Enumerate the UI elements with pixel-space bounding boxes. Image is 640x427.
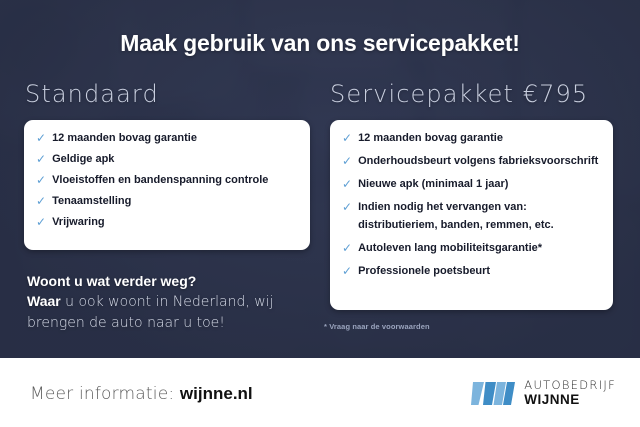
promo-body: Waar u ook woont in Nederland, wij breng…	[27, 291, 317, 334]
logo-line-bottom: WIJNNE	[524, 393, 616, 407]
list-item: ✓ 12 maanden bovag garantie	[342, 132, 599, 145]
list-item-label: Geldige apk	[52, 153, 114, 166]
list-item-label: Indien nodig het vervangen van:	[358, 201, 527, 213]
terms-footnote: * Vraag naar de voorwaarden	[324, 322, 430, 331]
standard-feature-list: ✓ 12 maanden bovag garantie ✓ Geldige ap…	[24, 120, 310, 229]
page-title: Maak gebruik van ons servicepakket!	[0, 30, 640, 57]
delivery-promo: Woont u wat verder weg? Waar u ook woont…	[27, 272, 317, 334]
service-package-banner: Maak gebruik van ons servicepakket! Stan…	[0, 0, 640, 427]
list-item: ✓ Professionele poetsbeurt	[342, 265, 599, 278]
list-item: ✓ Geldige apk	[36, 153, 296, 166]
promo-title: Woont u wat verder weg?	[27, 272, 317, 291]
service-package-card: ✓ 12 maanden bovag garantie ✓ Onderhouds…	[330, 120, 613, 310]
list-item-label: Tenaamstelling	[52, 195, 131, 208]
website-link[interactable]: wijnne.nl	[180, 384, 253, 403]
brand-logo: AUTOBEDRIJF WIJNNE	[471, 380, 616, 406]
list-item-label: Vloeistoffen en bandenspanning controle	[52, 174, 268, 187]
list-item: ✓ Tenaamstelling	[36, 195, 296, 208]
list-item-label: 12 maanden bovag garantie	[358, 132, 503, 145]
list-item: ✓ Autoleven lang mobiliteitsgarantie*	[342, 242, 599, 255]
list-item-label: Onderhoudsbeurt volgens fabrieksvoorschr…	[358, 155, 598, 168]
list-item-label: Professionele poetsbeurt	[358, 265, 490, 278]
list-item-label: 12 maanden bovag garantie	[52, 132, 197, 145]
check-icon: ✓	[36, 153, 46, 166]
list-item: ✓ 12 maanden bovag garantie	[36, 132, 296, 145]
logo-line-top: AUTOBEDRIJF	[524, 380, 616, 392]
promo-body-line2: brengen de auto naar u toe!	[27, 313, 317, 334]
list-item-label: Autoleven lang mobiliteitsgarantie*	[358, 242, 542, 255]
check-icon: ✓	[342, 242, 352, 255]
check-icon: ✓	[342, 201, 352, 214]
column-heading-servicepackage: Servicepakket €795	[330, 80, 588, 108]
list-item: ✓ Nieuwe apk (minimaal 1 jaar)	[342, 178, 599, 191]
standard-package-card: ✓ 12 maanden bovag garantie ✓ Geldige ap…	[24, 120, 310, 250]
check-icon: ✓	[342, 178, 352, 191]
check-icon: ✓	[342, 132, 352, 145]
list-item: ✓ Vrijwaring	[36, 216, 296, 229]
service-feature-list: ✓ 12 maanden bovag garantie ✓ Onderhouds…	[330, 120, 613, 278]
promo-body-rest: u ook woont in Nederland, wij	[61, 294, 274, 310]
list-item-label: Nieuwe apk (minimaal 1 jaar)	[358, 178, 508, 191]
more-info-text: Meer informatie: wijnne.nl	[30, 384, 253, 404]
check-icon: ✓	[36, 216, 46, 229]
column-heading-standard: Standaard	[25, 80, 159, 108]
check-icon: ✓	[36, 195, 46, 208]
check-icon: ✓	[342, 155, 352, 168]
more-info-prefix: Meer informatie:	[30, 384, 180, 404]
logo-wordmark: AUTOBEDRIJF WIJNNE	[524, 380, 616, 406]
wijnne-w-icon	[471, 381, 515, 406]
check-icon: ✓	[36, 132, 46, 145]
list-item: ✓ Onderhoudsbeurt volgens fabrieksvoorsc…	[342, 155, 599, 168]
check-icon: ✓	[342, 265, 352, 278]
list-item-label: Vrijwaring	[52, 216, 105, 229]
list-item: ✓ Vloeistoffen en bandenspanning control…	[36, 174, 296, 187]
footer-bar: Meer informatie: wijnne.nl AUTOBEDRIJF W…	[0, 358, 640, 427]
check-icon: ✓	[36, 174, 46, 187]
promo-body-emphasis: Waar	[27, 293, 61, 309]
list-item-continuation: distributieriem, banden, remmen, etc.	[358, 219, 554, 232]
list-item: ✓ Indien nodig het vervangen van: distri…	[342, 201, 599, 232]
